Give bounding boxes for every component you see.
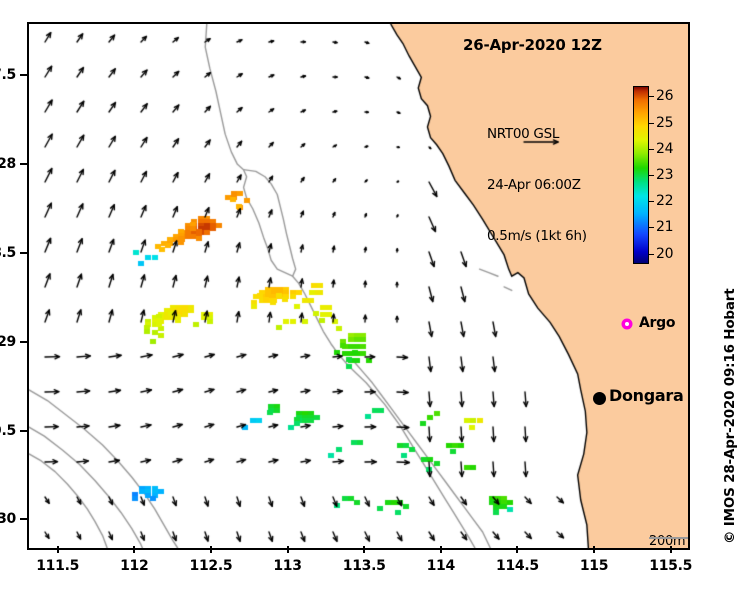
y-tick [20, 430, 27, 432]
colorbar-tick-label: 24 [656, 141, 673, 157]
x-tick-label: 115.5 [649, 558, 692, 574]
colorbar-tick-label: 22 [656, 193, 673, 209]
y-tick-label: -27.5 [0, 67, 16, 83]
colorbar-tick-label: 25 [656, 115, 673, 131]
map-canvas [29, 24, 688, 548]
colorbar-gradient [633, 86, 649, 264]
x-tick [516, 546, 518, 553]
y-tick [20, 518, 27, 520]
colorbar-tick-label: 26 [656, 88, 673, 104]
colorbar-tick-label: 21 [656, 219, 673, 235]
colorbar-tick [649, 149, 654, 150]
x-tick [57, 546, 59, 553]
bathy-legend-rule [649, 537, 690, 539]
y-tick-label: -29 [0, 334, 16, 350]
vector-legend-line1: NRT00 GSL [487, 126, 587, 143]
x-tick [593, 546, 595, 553]
x-tick-label: 112.5 [190, 558, 233, 574]
vector-legend-line3: 0.5m/s (1kt 6h) [487, 228, 587, 245]
x-tick-label: 111.5 [36, 558, 79, 574]
x-tick-label: 112 [120, 558, 148, 574]
x-tick [363, 546, 365, 553]
colorbar-tick [649, 201, 654, 202]
colorbar-tick [649, 227, 654, 228]
sst-map-figure: 26-Apr-2020 12Z NRT00 GSL 24-Apr 06:00Z … [0, 0, 739, 592]
map-plot-area: 26-Apr-2020 12Z NRT00 GSL 24-Apr 06:00Z … [27, 22, 690, 550]
colorbar-tick [649, 123, 654, 124]
x-tick-label: 114.5 [496, 558, 539, 574]
x-tick-label: 113.5 [343, 558, 386, 574]
colorbar-tick-label: 23 [656, 167, 673, 183]
dongara-marker [593, 392, 606, 405]
credit-text: © IMOS 28-Apr-2020 09:16 Hobart [722, 288, 738, 544]
y-tick-label: -28.5 [0, 245, 16, 261]
x-tick-label: 114 [427, 558, 455, 574]
x-tick [210, 546, 212, 553]
y-tick-label: -28 [0, 156, 16, 172]
y-tick-label: -30 [0, 511, 16, 527]
date-title: 26-Apr-2020 12Z [463, 36, 602, 54]
vector-legend-line2: 24-Apr 06:00Z [487, 177, 587, 194]
y-tick [20, 163, 27, 165]
x-tick-label: 115 [580, 558, 608, 574]
y-tick [20, 341, 27, 343]
colorbar-tick-label: 20 [656, 246, 673, 262]
x-tick [440, 546, 442, 553]
y-tick [20, 74, 27, 76]
colorbar-tick [649, 175, 654, 176]
argo-icon [621, 318, 633, 330]
dongara-label: Dongara [609, 386, 684, 405]
x-tick [133, 546, 135, 553]
y-tick [20, 252, 27, 254]
x-tick [670, 546, 672, 553]
argo-legend-label: Argo [639, 315, 675, 331]
y-tick-label: -29.5 [0, 423, 16, 439]
x-tick [287, 546, 289, 553]
colorbar-tick [649, 254, 654, 255]
colorbar-tick [649, 96, 654, 97]
x-tick-label: 113 [273, 558, 301, 574]
